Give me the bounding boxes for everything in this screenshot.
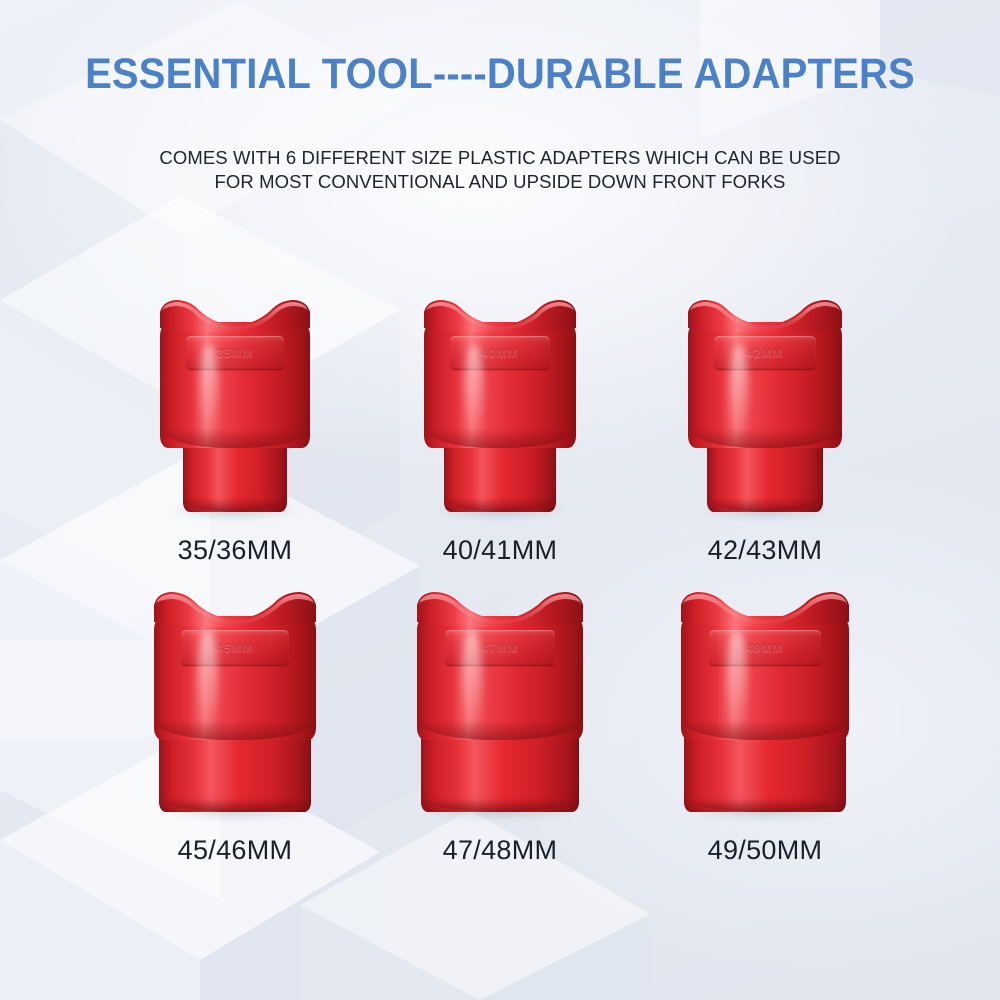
adapter-saddle-top <box>154 590 316 626</box>
adapter-size-label: 49/50MM <box>708 834 823 866</box>
page-subtitle: COMES WITH 6 DIFFERENT SIZE PLASTIC ADAP… <box>0 146 1000 194</box>
adapter-size-label: 35/36MM <box>178 534 293 566</box>
adapter-body: 40MM <box>424 322 576 512</box>
adapter-emboss-plate: 47MM <box>445 630 555 666</box>
adapter-body: 49MM <box>681 616 849 812</box>
adapter-body: 47MM <box>417 616 583 812</box>
adapter-body: 35MM <box>160 322 310 512</box>
adapter-size-label: 45/46MM <box>178 834 293 866</box>
adapter-size-label: 42/43MM <box>708 534 823 566</box>
adapter-saddle-top <box>681 590 849 626</box>
adapter-image: 35MM <box>120 300 350 530</box>
adapter-image: 49MM <box>650 600 880 830</box>
adapter-emboss-text: 40MM <box>450 336 550 370</box>
adapter-saddle-top <box>160 298 310 332</box>
subtitle-line-1: COMES WITH 6 DIFFERENT SIZE PLASTIC ADAP… <box>0 146 1000 170</box>
adapter-grid: 35MM 35/36MM <box>120 300 880 900</box>
adapter-row-2: 45MM 45/46MM <box>120 600 880 866</box>
adapter-emboss-plate: 45MM <box>181 630 289 666</box>
adapter-image: 40MM <box>385 300 615 530</box>
adapter-saddle-top <box>417 590 583 626</box>
adapter-saddle-top <box>424 298 576 332</box>
adapter-row-1: 35MM 35/36MM <box>120 300 880 566</box>
adapter-emboss-text: 45MM <box>181 630 289 666</box>
product-infographic: ESSENTIAL TOOL----DURABLE ADAPTERS COMES… <box>0 0 1000 1000</box>
subtitle-line-2: FOR MOST CONVENTIONAL AND UPSIDE DOWN FR… <box>0 170 1000 194</box>
page-title: ESSENTIAL TOOL----DURABLE ADAPTERS <box>35 50 965 98</box>
adapter-item[interactable]: 42MM 42/43MM <box>650 300 880 566</box>
adapter-emboss-text: 35MM <box>186 336 284 370</box>
adapter-emboss-text: 49MM <box>709 630 821 666</box>
adapter-image: 45MM <box>120 600 350 830</box>
adapter-item[interactable]: 49MM 49/50MM <box>650 600 880 866</box>
adapter-item[interactable]: 40MM 40/41MM <box>385 300 615 566</box>
adapter-emboss-text: 47MM <box>445 630 555 666</box>
adapter-saddle-top <box>688 298 842 332</box>
adapter-body: 45MM <box>154 616 316 812</box>
adapter-emboss-plate: 49MM <box>709 630 821 666</box>
adapter-item[interactable]: 47MM 47/48MM <box>385 600 615 866</box>
adapter-size-label: 47/48MM <box>443 834 558 866</box>
adapter-size-label: 40/41MM <box>443 534 558 566</box>
adapter-emboss-plate: 42MM <box>714 336 816 370</box>
adapter-emboss-plate: 35MM <box>186 336 284 370</box>
adapter-body: 42MM <box>688 322 842 512</box>
adapter-emboss-text: 42MM <box>714 336 816 370</box>
adapter-item[interactable]: 45MM 45/46MM <box>120 600 350 866</box>
adapter-image: 42MM <box>650 300 880 530</box>
adapter-image: 47MM <box>385 600 615 830</box>
adapter-emboss-plate: 40MM <box>450 336 550 370</box>
adapter-item[interactable]: 35MM 35/36MM <box>120 300 350 566</box>
